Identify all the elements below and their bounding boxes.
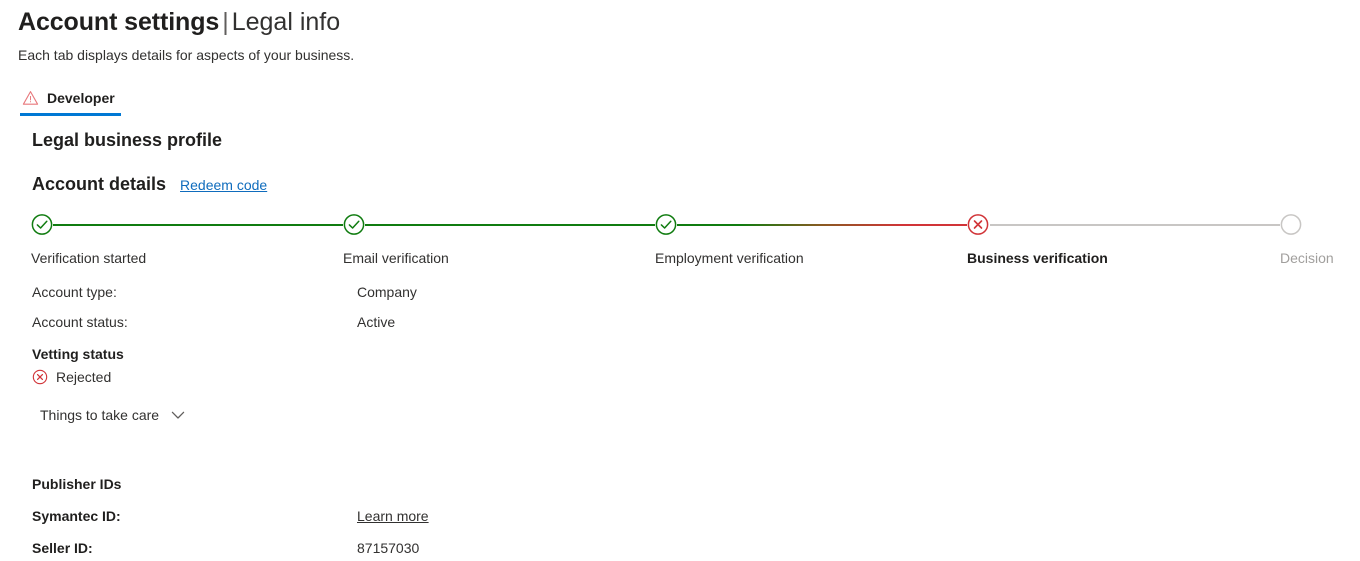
account-details-heading-row: Account details Redeem code [32, 172, 267, 196]
status-badge: Rejected [32, 367, 124, 387]
vetting-status-heading: Vetting status [32, 344, 124, 364]
things-to-take-care-label: Things to take care [40, 405, 159, 425]
error-circle-icon [967, 213, 990, 236]
page-subtitle: Each tab displays details for aspects of… [18, 45, 1318, 65]
step-connector-3-4 [677, 224, 967, 226]
step-node-verification-started[interactable] [31, 213, 54, 236]
things-to-take-care-toggle[interactable]: Things to take care [40, 403, 187, 427]
step-node-email-verification[interactable] [343, 213, 366, 236]
detail-label-account-type: Account type: [32, 282, 117, 302]
detail-label-seller-id: Seller ID: [32, 538, 93, 558]
publisher-ids-heading: Publisher IDs [32, 474, 121, 494]
step-connector-2-3 [365, 224, 655, 226]
detail-value-seller-id: 87157030 [357, 538, 419, 558]
step-connector-1-2 [53, 224, 343, 226]
detail-value-account-type: Company [357, 282, 417, 302]
step-label-decision: Decision [1280, 248, 1334, 268]
empty-circle-icon [1280, 213, 1303, 236]
chevron-down-icon [169, 406, 187, 424]
detail-label-symantec-id: Symantec ID: [32, 506, 121, 526]
vetting-status-block: Vetting status Rejected [32, 344, 124, 387]
page-title-separator: | [219, 8, 232, 36]
vetting-status-value: Rejected [56, 367, 111, 387]
step-label-email-verification: Email verification [343, 248, 449, 268]
check-circle-icon [31, 213, 54, 236]
tab-developer[interactable]: Developer [18, 86, 121, 116]
error-circle-icon [32, 369, 48, 385]
page-title: Account settings|Legal info [18, 6, 1318, 38]
verification-progress-stepper: Verification started Email verification … [0, 206, 1360, 276]
step-label-verification-started: Verification started [31, 248, 146, 268]
account-details-heading: Account details [32, 172, 166, 196]
warning-triangle-icon [22, 90, 39, 106]
detail-label-account-status: Account status: [32, 312, 128, 332]
step-connector-4-5 [990, 224, 1280, 226]
tab-bar: Developer [18, 86, 121, 116]
step-node-decision[interactable] [1280, 213, 1303, 236]
detail-value-account-status: Active [357, 312, 395, 332]
step-node-business-verification[interactable] [967, 213, 990, 236]
check-circle-icon [343, 213, 366, 236]
page-header: Account settings|Legal info Each tab dis… [18, 6, 1318, 65]
legal-business-profile-heading: Legal business profile [32, 128, 222, 152]
step-node-employment-verification[interactable] [655, 213, 678, 236]
tab-developer-label: Developer [47, 88, 115, 108]
step-label-business-verification: Business verification [967, 248, 1108, 268]
page-title-main: Account settings [18, 8, 219, 36]
check-circle-icon [655, 213, 678, 236]
step-label-employment-verification: Employment verification [655, 248, 804, 268]
page-title-sub: Legal info [232, 8, 340, 36]
symantec-id-learn-more-link[interactable]: Learn more [357, 506, 429, 526]
tab-active-indicator [20, 113, 121, 116]
redeem-code-link[interactable]: Redeem code [180, 175, 267, 195]
